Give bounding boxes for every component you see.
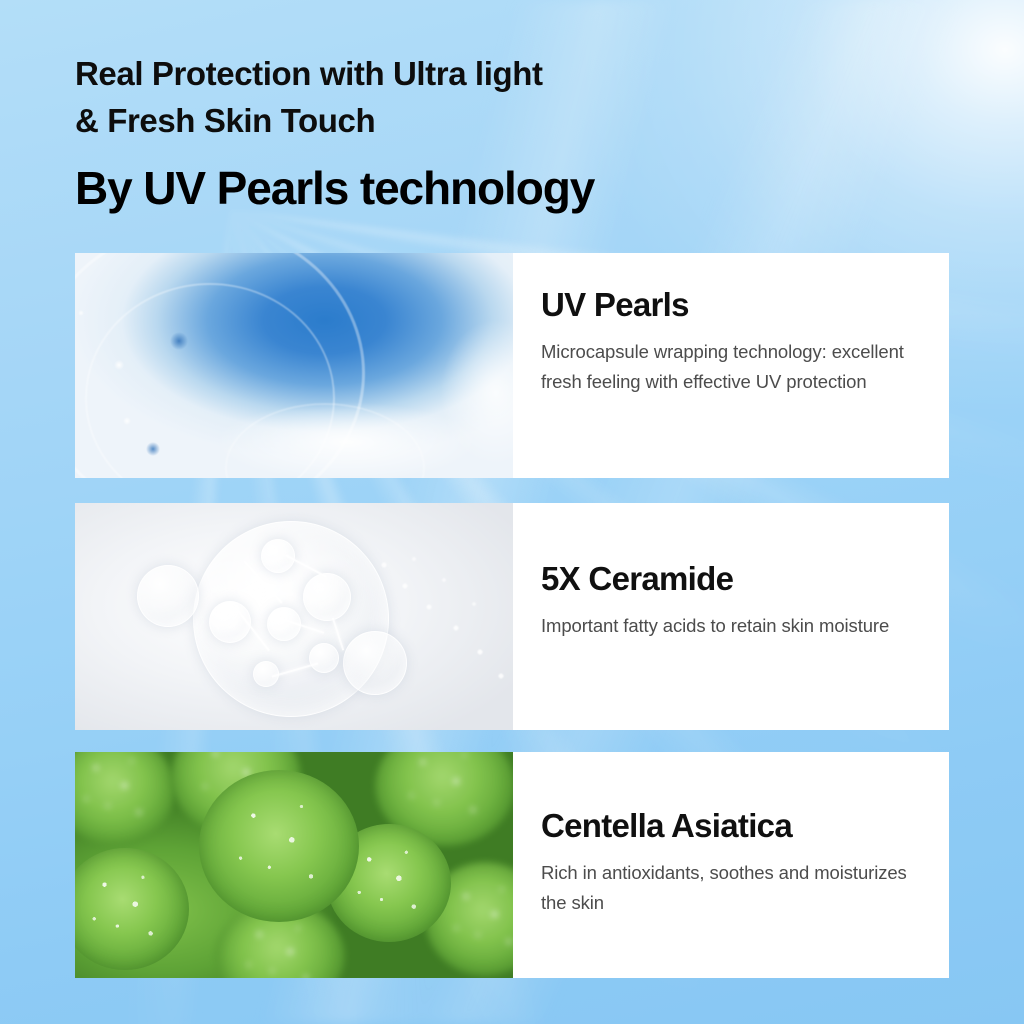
card-body-centella: Centella Asiatica Rich in antioxidants, … — [513, 752, 949, 978]
water-bubble-photo — [75, 253, 513, 478]
molecule-bubble-photo — [75, 503, 513, 730]
headline-block: Real Protection with Ultra light & Fresh… — [75, 50, 594, 216]
page-title: By UV Pearls technology — [75, 160, 594, 216]
card-desc-centella: Rich in antioxidants, soothes and moistu… — [541, 858, 919, 918]
card-desc-uv-pearls: Microcapsule wrapping technology: excell… — [541, 337, 919, 397]
splash-arc-2 — [85, 283, 335, 478]
card-desc-ceramide: Important fatty acids to retain skin moi… — [541, 611, 919, 641]
molecule-sphere-right — [343, 631, 407, 695]
leaf-bg-1 — [75, 752, 175, 846]
leaf-main — [199, 770, 359, 922]
card-body-uv-pearls: UV Pearls Microcapsule wrapping technolo… — [513, 253, 949, 478]
centella-leaves-photo — [75, 752, 513, 978]
card-body-ceramide: 5X Ceramide Important fatty acids to ret… — [513, 503, 949, 730]
splash-arc-3 — [225, 403, 425, 478]
infographic-page: Real Protection with Ultra light & Fresh… — [0, 0, 1024, 1024]
molecule-atom-upper-right — [303, 573, 351, 621]
molecule-atom-lower-right — [309, 643, 339, 673]
feature-card-uv-pearls: UV Pearls Microcapsule wrapping technolo… — [75, 253, 949, 478]
splash-arc-1 — [75, 253, 365, 478]
headline-line-1: Real Protection with Ultra light — [75, 50, 594, 97]
card-title-uv-pearls: UV Pearls — [541, 287, 919, 323]
feature-card-ceramide: 5X Ceramide Important fatty acids to ret… — [75, 503, 949, 730]
card-title-centella: Centella Asiatica — [541, 808, 919, 844]
headline-line-2: & Fresh Skin Touch — [75, 97, 594, 144]
molecule-sphere-left — [137, 565, 199, 627]
card-title-ceramide: 5X Ceramide — [541, 561, 919, 597]
feature-card-centella: Centella Asiatica Rich in antioxidants, … — [75, 752, 949, 978]
leaf-left — [75, 848, 189, 970]
